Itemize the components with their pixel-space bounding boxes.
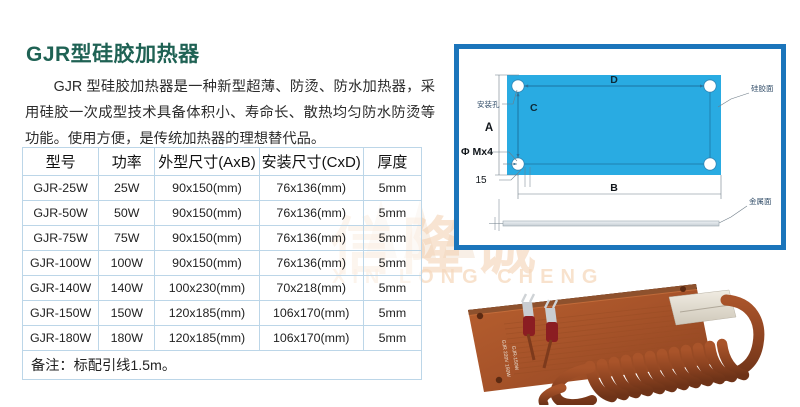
cell-model: GJR-25W xyxy=(23,176,99,201)
cell-outer-dim: 90x150(mm) xyxy=(155,251,259,276)
table-remark-cell: 备注：标配引线1.5m。 xyxy=(23,351,422,380)
side-view-plate xyxy=(503,221,719,226)
leader-metal-face xyxy=(717,206,747,224)
cell-thickness: 5mm xyxy=(363,201,421,226)
cell-outer-dim: 90x150(mm) xyxy=(155,226,259,251)
column-header-power: 功率 xyxy=(99,148,155,176)
cell-outer-dim: 100x230(mm) xyxy=(155,276,259,301)
table-header-row: 型号 功率 外型尺寸(AxB) 安装尺寸(CxD) 厚度 xyxy=(23,148,422,176)
terminal-blade-left xyxy=(522,302,534,318)
cell-mount-dim: 106x170(mm) xyxy=(259,326,363,351)
cell-outer-dim: 90x150(mm) xyxy=(155,176,259,201)
cell-model: GJR-150W xyxy=(23,301,99,326)
page-title: GJR型硅胶加热器 xyxy=(26,38,200,68)
cell-power: 140W xyxy=(99,276,155,301)
cell-thickness: 5mm xyxy=(363,276,421,301)
terminal-blade-right xyxy=(545,308,557,324)
technical-drawing-panel: 安装孔 A Φ Mx4 15 C D B 硅胶面 金属面 xyxy=(454,44,786,250)
cell-model: GJR-100W xyxy=(23,251,99,276)
left-content-column: GJR型硅胶加热器 GJR 型硅胶加热器是一种新型超薄、防烫、防水加热器，采用硅… xyxy=(0,0,448,407)
mounting-hole-top-right xyxy=(704,80,716,92)
pad-hole-bottom-left xyxy=(496,377,502,383)
leader-silicone-face xyxy=(718,93,749,107)
label-dim-c: C xyxy=(530,102,538,114)
label-mount-hole: 安装孔 xyxy=(477,99,500,109)
cell-power: 150W xyxy=(99,301,155,326)
product-photo-svg: GJR 220V 150W GJR-150W xyxy=(444,272,796,405)
cell-power: 180W xyxy=(99,326,155,351)
cell-outer-dim: 90x150(mm) xyxy=(155,201,259,226)
table-row: GJR-75W75W90x150(mm)76x136(mm)5mm xyxy=(23,226,422,251)
table-row: GJR-100W100W90x150(mm)76x136(mm)5mm xyxy=(23,251,422,276)
column-header-outer-dim: 外型尺寸(AxB) xyxy=(155,148,259,176)
heater-plate-body xyxy=(507,75,721,175)
cell-thickness: 5mm xyxy=(363,226,421,251)
cell-power: 100W xyxy=(99,251,155,276)
technical-drawing-svg: 安装孔 A Φ Mx4 15 C D B 硅胶面 金属面 xyxy=(459,49,781,245)
cell-model: GJR-75W xyxy=(23,226,99,251)
column-header-thickness: 厚度 xyxy=(363,148,421,176)
intro-paragraph: GJR 型硅胶加热器是一种新型超薄、防烫、防水加热器，采用硅胶一次成型技术具备体… xyxy=(25,74,435,152)
cell-mount-dim: 76x136(mm) xyxy=(259,176,363,201)
label-thread-spec: Φ Mx4 xyxy=(461,146,493,158)
terminal-boot-right xyxy=(546,322,558,342)
cell-mount-dim: 106x170(mm) xyxy=(259,301,363,326)
cell-thickness: 5mm xyxy=(363,301,421,326)
table-row: GJR-150W150W120x185(mm)106x170(mm)5mm xyxy=(23,301,422,326)
terminal-prong-left xyxy=(522,294,534,302)
cell-mount-dim: 76x136(mm) xyxy=(259,201,363,226)
cell-mount-dim: 76x136(mm) xyxy=(259,251,363,276)
product-photo: GJR 220V 150W GJR-150W xyxy=(444,272,796,405)
label-silicone-face: 硅胶面 xyxy=(751,83,774,93)
column-header-mount-dim: 安装尺寸(CxD) xyxy=(259,148,363,176)
mounting-hole-top-left xyxy=(512,80,524,92)
cell-mount-dim: 76x136(mm) xyxy=(259,226,363,251)
label-edge-margin: 15 xyxy=(475,175,487,186)
cell-model: GJR-180W xyxy=(23,326,99,351)
cell-thickness: 5mm xyxy=(363,176,421,201)
cell-outer-dim: 120x185(mm) xyxy=(155,301,259,326)
mounting-hole-bottom-right xyxy=(704,158,716,170)
pad-hole-top-left xyxy=(477,313,483,319)
specification-table: 型号 功率 外型尺寸(AxB) 安装尺寸(CxD) 厚度 GJR-25W25W9… xyxy=(22,147,422,380)
table-row: GJR-25W25W90x150(mm)76x136(mm)5mm xyxy=(23,176,422,201)
cell-thickness: 5mm xyxy=(363,251,421,276)
terminal-boot-left xyxy=(523,316,535,336)
specification-table-body: GJR-25W25W90x150(mm)76x136(mm)5mmGJR-50W… xyxy=(23,176,422,351)
label-dim-d: D xyxy=(610,74,618,86)
cell-mount-dim: 70x218(mm) xyxy=(259,276,363,301)
label-dim-b: B xyxy=(610,182,618,194)
label-dim-a: A xyxy=(485,122,493,134)
cell-thickness: 5mm xyxy=(363,326,421,351)
cell-power: 50W xyxy=(99,201,155,226)
column-header-model: 型号 xyxy=(23,148,99,176)
table-remark-row: 备注：标配引线1.5m。 xyxy=(23,351,422,380)
cell-outer-dim: 120x185(mm) xyxy=(155,326,259,351)
table-row: GJR-140W140W100x230(mm)70x218(mm)5mm xyxy=(23,276,422,301)
cell-model: GJR-140W xyxy=(23,276,99,301)
pad-hole-top-right xyxy=(680,286,686,292)
cell-model: GJR-50W xyxy=(23,201,99,226)
cell-power: 75W xyxy=(99,226,155,251)
cell-power: 25W xyxy=(99,176,155,201)
label-metal-face: 金属面 xyxy=(749,196,772,206)
table-row: GJR-50W50W90x150(mm)76x136(mm)5mm xyxy=(23,201,422,226)
table-row: GJR-180W180W120x185(mm)106x170(mm)5mm xyxy=(23,326,422,351)
